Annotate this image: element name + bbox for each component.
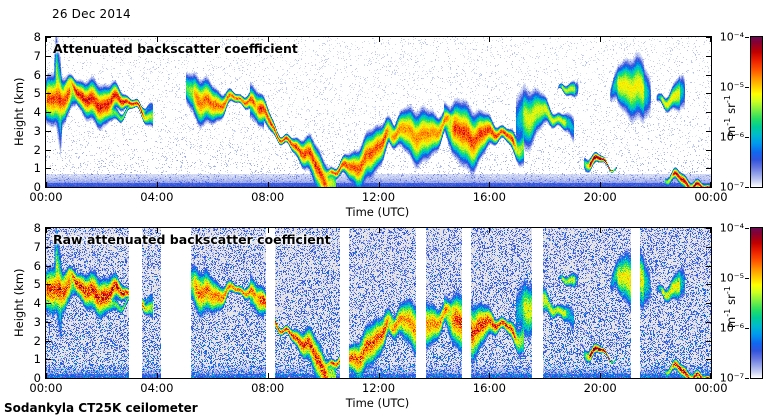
colorbar-tick	[745, 278, 749, 279]
date-label: 26 Dec 2014	[52, 7, 131, 21]
x-tick	[379, 182, 380, 187]
y-tick	[46, 359, 51, 360]
colorbar-tick-label: 10⁻⁷	[713, 181, 744, 194]
x-tick	[46, 182, 47, 187]
x-tick	[157, 373, 158, 378]
y-tick-label: 7	[19, 240, 41, 254]
x-tick	[268, 182, 269, 187]
colorbar-tick-label: 10⁻⁵	[713, 81, 744, 94]
x-tick	[489, 37, 490, 42]
colorbar-tick	[745, 137, 749, 138]
x-tick	[489, 373, 490, 378]
heatmap-canvas-top	[46, 37, 711, 187]
x-tick	[600, 228, 601, 233]
x-tick	[600, 182, 601, 187]
x-tick	[379, 373, 380, 378]
y-axis-title: Height (km)	[12, 268, 26, 337]
x-tick-label: 08:00	[251, 381, 284, 395]
x-tick	[379, 37, 380, 42]
x-tick	[710, 37, 711, 42]
x-axis-title: Time (UTC)	[346, 396, 410, 410]
y-tick	[46, 93, 51, 94]
footer-caption: Sodankyla CT25K ceilometer	[4, 401, 198, 415]
x-tick-label: 04:00	[140, 190, 173, 204]
x-tick-label: 00:00	[29, 190, 62, 204]
y-tick	[706, 341, 711, 342]
x-tick-label: 16:00	[473, 381, 506, 395]
colorbar-tick	[745, 228, 749, 229]
colorbar-tick	[745, 378, 749, 379]
y-tick	[706, 131, 711, 132]
y-tick-label: 8	[19, 30, 41, 44]
panel-attenuated-backscatter: Attenuated backscatter coefficient	[45, 36, 712, 188]
colorbar-unit-label: m-1 sr-1	[722, 95, 738, 137]
colorbar-tick-label: 10⁻⁷	[713, 372, 744, 385]
colorbar-tick	[745, 87, 749, 88]
y-tick	[706, 284, 711, 285]
x-tick	[46, 37, 47, 42]
y-tick	[46, 247, 51, 248]
y-tick	[706, 75, 711, 76]
colorbar-tick	[745, 328, 749, 329]
panel-title-top: Attenuated backscatter coefficient	[53, 41, 298, 56]
x-tick	[268, 373, 269, 378]
y-tick	[46, 378, 51, 379]
x-tick-label: 20:00	[584, 381, 617, 395]
y-tick	[46, 112, 51, 113]
x-tick	[600, 37, 601, 42]
panel-raw-attenuated-backscatter: Raw attenuated backscatter coefficient	[45, 227, 712, 379]
x-tick	[46, 373, 47, 378]
x-tick-label: 16:00	[473, 190, 506, 204]
y-tick-label: 1	[19, 161, 41, 175]
panel-title-bottom: Raw attenuated backscatter coefficient	[53, 232, 331, 247]
y-tick	[46, 266, 51, 267]
y-axis-title: Height (km)	[12, 77, 26, 146]
x-tick-label: 08:00	[251, 190, 284, 204]
x-tick	[489, 182, 490, 187]
x-tick-label: 04:00	[140, 381, 173, 395]
colorbar-tick-label: 10⁻⁴	[713, 222, 744, 235]
x-tick	[157, 182, 158, 187]
y-tick	[46, 284, 51, 285]
colorbar-tick-label: 10⁻⁵	[713, 272, 744, 285]
y-tick	[46, 150, 51, 151]
x-tick-label: 00:00	[29, 381, 62, 395]
x-tick-label: 12:00	[362, 381, 395, 395]
y-tick-label: 1	[19, 352, 41, 366]
x-tick	[710, 228, 711, 233]
y-tick	[706, 150, 711, 151]
y-tick	[46, 303, 51, 304]
colorbar-bottom	[750, 227, 763, 379]
colorbar-tick-label: 10⁻⁴	[713, 31, 744, 44]
y-tick	[46, 56, 51, 57]
y-tick	[46, 187, 51, 188]
y-tick	[706, 112, 711, 113]
colorbar-top	[750, 36, 763, 188]
y-tick	[706, 378, 711, 379]
x-tick-label: 12:00	[362, 190, 395, 204]
x-tick	[379, 228, 380, 233]
y-tick	[706, 247, 711, 248]
y-tick	[706, 322, 711, 323]
y-tick	[46, 131, 51, 132]
y-tick	[706, 303, 711, 304]
x-tick	[600, 373, 601, 378]
y-tick	[46, 75, 51, 76]
heatmap-canvas-bottom	[46, 228, 711, 378]
y-tick	[46, 322, 51, 323]
y-tick	[46, 168, 51, 169]
x-tick	[489, 228, 490, 233]
x-tick-label: 20:00	[584, 190, 617, 204]
y-tick	[706, 168, 711, 169]
colorbar-unit-label: m-1 sr-1	[722, 286, 738, 328]
x-axis-title: Time (UTC)	[346, 205, 410, 219]
y-tick-label: 7	[19, 49, 41, 63]
y-tick-label: 8	[19, 221, 41, 235]
y-tick	[46, 341, 51, 342]
x-tick	[710, 373, 711, 378]
colorbar-tick	[745, 37, 749, 38]
y-tick	[706, 56, 711, 57]
y-tick	[706, 93, 711, 94]
y-tick	[706, 266, 711, 267]
y-tick	[706, 359, 711, 360]
x-tick	[710, 182, 711, 187]
colorbar-tick	[745, 187, 749, 188]
y-tick	[706, 187, 711, 188]
x-tick	[46, 228, 47, 233]
